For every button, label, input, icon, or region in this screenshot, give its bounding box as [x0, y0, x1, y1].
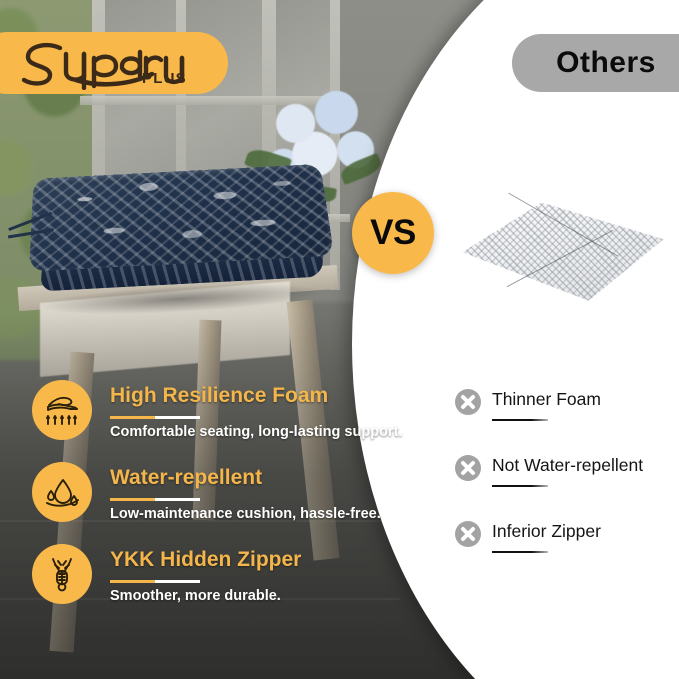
cushion-top-surface	[29, 164, 334, 272]
feature-item-ykk-hidden-zipper: YKK Hidden Zipper Smoother, more durable…	[32, 544, 382, 626]
feature-item-water-repellent: Water-repellent Low-maintenance cushion,…	[32, 462, 382, 544]
zipper-icon	[32, 544, 92, 604]
product-comparison-infographic: PLUS Others VS	[0, 0, 679, 679]
feature-divider	[110, 416, 200, 419]
brand-logo-icon: PLUS	[16, 36, 202, 90]
drawback-text: Not Water-repellent	[492, 455, 643, 476]
competitor-drawback-list: Thinner Foam Not Water-repellent Inferio…	[454, 388, 679, 586]
drawback-text: Inferior Zipper	[492, 521, 601, 542]
feature-subtitle: Smoother, more durable.	[110, 588, 281, 604]
feature-divider	[110, 498, 200, 501]
drawback-text: Thinner Foam	[492, 389, 601, 410]
feature-list: High Resilience Foam Comfortable seating…	[32, 380, 382, 626]
cushion-support-hand-icon	[32, 380, 92, 440]
svg-text:PLUS: PLUS	[142, 70, 187, 87]
drawback-divider	[492, 551, 548, 553]
others-badge: Others	[512, 34, 679, 92]
x-circle-icon	[454, 520, 482, 548]
competitor-cushion-pad	[456, 196, 670, 304]
feature-divider	[110, 580, 200, 583]
vs-badge: VS	[352, 192, 434, 274]
feature-subtitle: Comfortable seating, long-lasting suppor…	[110, 424, 402, 440]
water-droplet-icon	[32, 462, 92, 522]
x-circle-icon	[454, 388, 482, 416]
brand-logo-badge: PLUS	[0, 32, 228, 94]
drawback-divider	[492, 485, 548, 487]
drawback-item-not-water-repellent: Not Water-repellent	[454, 454, 679, 520]
feature-subtitle: Low-maintenance cushion, hassle-free.	[110, 506, 381, 522]
feature-title: YKK Hidden Zipper	[110, 548, 301, 572]
drawback-item-inferior-zipper: Inferior Zipper	[454, 520, 679, 586]
drawback-item-thinner-foam: Thinner Foam	[454, 388, 679, 454]
vs-label: VS	[370, 213, 416, 253]
x-circle-icon	[454, 454, 482, 482]
brand-logo: PLUS	[16, 36, 202, 90]
feature-item-high-resilience-foam: High Resilience Foam Comfortable seating…	[32, 380, 382, 462]
drawback-divider	[492, 419, 548, 421]
feature-title: High Resilience Foam	[110, 384, 328, 408]
others-label: Others	[556, 46, 656, 80]
product-cushion-image	[23, 160, 339, 304]
competitor-cushion-image	[456, 196, 670, 308]
feature-title: Water-repellent	[110, 466, 262, 490]
